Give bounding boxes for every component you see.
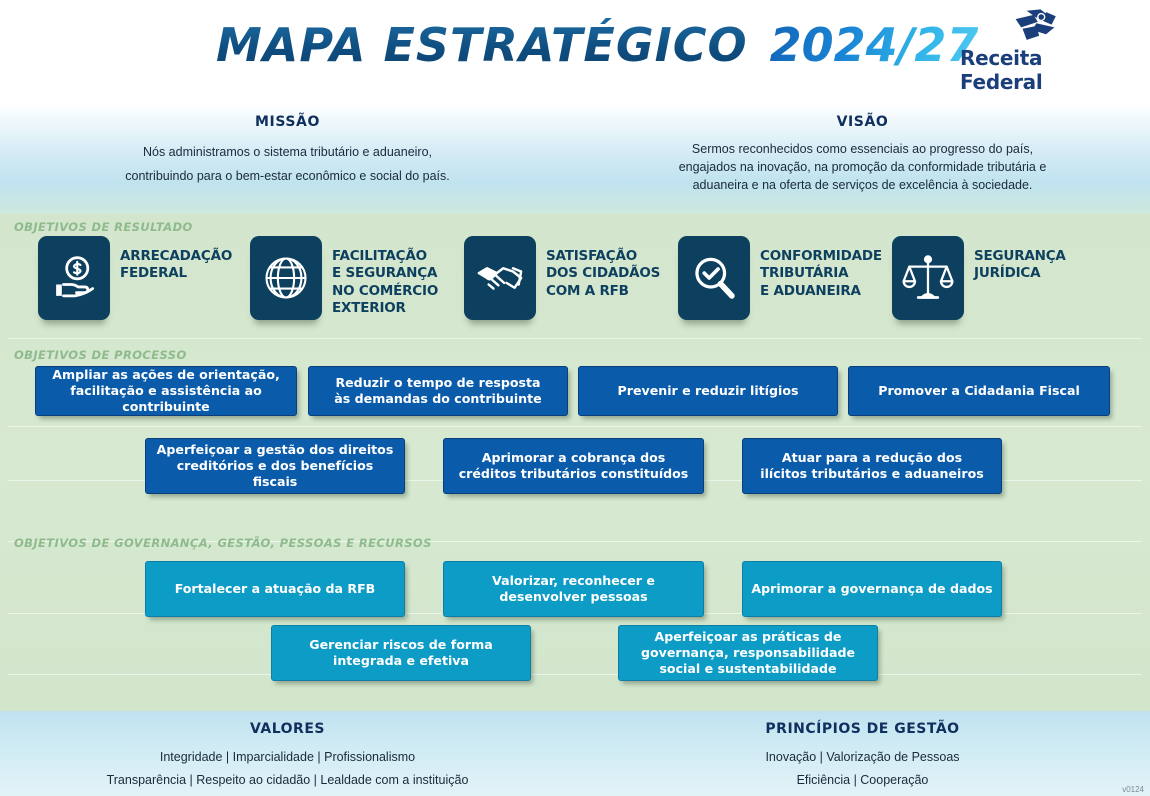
box-line-1: Aperfeiçoar a gestão dos direitos (154, 442, 396, 458)
result-objective-label: SEGURANÇA JURÍDICA (974, 248, 1066, 283)
vision-line-1: Sermos reconhecidos como essenciais ao p… (575, 140, 1150, 158)
mission-line-2: contribuindo para o bem-estar econômico … (0, 164, 575, 188)
label-line-1: CONFORMIDADE (760, 248, 882, 265)
label-line-2: TRIBUTÁRIA (760, 265, 882, 282)
principles-heading: PRINCÍPIOS DE GESTÃO (575, 721, 1150, 737)
version-label: v0124 (1122, 785, 1144, 794)
values-block: VALORES Integridade | Imparcialidade | P… (0, 711, 575, 796)
values-heading: VALORES (0, 721, 575, 737)
label-line-1: SEGURANÇA (974, 248, 1066, 265)
footer-band: VALORES Integridade | Imparcialidade | P… (0, 711, 1150, 796)
result-objective-satisfacao[interactable]: SATISFAÇÃO DOS CIDADÃOS COM A RFB (464, 236, 660, 320)
result-objective-label: FACILITAÇÃO E SEGURANÇA NO COMÉRCIO EXTE… (332, 248, 438, 317)
process-objective-direitos-creditorios[interactable]: Aperfeiçoar a gestão dos direitos credit… (145, 438, 405, 494)
result-objective-label: ARRECADAÇÃO FEDERAL (120, 248, 232, 283)
result-objective-comercio-exterior[interactable]: FACILITAÇÃO E SEGURANÇA NO COMÉRCIO EXTE… (250, 236, 438, 320)
mission-line-1: Nós administramos o sistema tributário e… (0, 140, 575, 164)
process-objective-prevenir-litigios[interactable]: Prevenir e reduzir litígios (578, 366, 838, 416)
mission-heading: MISSÃO (0, 114, 575, 130)
process-objective-ampliar-acoes[interactable]: Ampliar as ações de orientação, facilita… (35, 366, 297, 416)
section-label-process: OBJETIVOS DE PROCESSO (14, 348, 187, 362)
mission-vision-band: MISSÃO Nós administramos o sistema tribu… (0, 104, 1150, 214)
mission-block: MISSÃO Nós administramos o sistema tribu… (0, 104, 575, 214)
process-objective-reducao-ilicitos[interactable]: Atuar para a redução dos ilícitos tribut… (742, 438, 1002, 494)
governance-objective-gerenciar-riscos[interactable]: Gerenciar riscos de forma integrada e ef… (271, 625, 531, 681)
title-main-text: MAPA ESTRATÉGICO (216, 18, 748, 72)
result-objective-seguranca-juridica[interactable]: SEGURANÇA JURÍDICA (892, 236, 1066, 320)
box-line-1: Ampliar as ações de orientação, (44, 367, 288, 383)
result-objective-label: CONFORMIDADE TRIBUTÁRIA E ADUANEIRA (760, 248, 882, 300)
box-line-2: às demandas do contribuinte (334, 391, 541, 407)
process-objective-reduzir-tempo[interactable]: Reduzir o tempo de resposta às demandas … (308, 366, 568, 416)
label-line-4: EXTERIOR (332, 300, 438, 317)
receita-federal-brasao-icon (993, 8, 1077, 44)
box-line-1: Prevenir e reduzir litígios (618, 383, 799, 399)
label-line-3: NO COMÉRCIO (332, 283, 438, 300)
label-line-3: E ADUANEIRA (760, 283, 882, 300)
strategic-map-page: MAPA ESTRATÉGICO 2024/27 Receita Federal… (0, 0, 1150, 796)
label-line-2: DOS CIDADÃOS (546, 265, 660, 282)
management-principles-block: PRINCÍPIOS DE GESTÃO Inovação | Valoriza… (575, 711, 1150, 796)
governance-objective-fortalecer-rfb[interactable]: Fortalecer a atuação da RFB (145, 561, 405, 617)
box-line-2: ilícitos tributários e aduaneiros (760, 466, 983, 482)
box-line-2: créditos tributários constituídos (459, 466, 689, 482)
process-objective-cobranca-creditos[interactable]: Aprimorar a cobrança dos créditos tribut… (443, 438, 704, 494)
label-line-3: COM A RFB (546, 283, 660, 300)
label-line-2: E SEGURANÇA (332, 265, 438, 282)
box-line-2: creditórios e dos benefícios fiscais (154, 458, 396, 490)
box-line-2: governança, responsabilidade (641, 645, 855, 661)
label-line-1: FACILITAÇÃO (332, 248, 438, 265)
vision-heading: VISÃO (575, 114, 1150, 130)
hand-holding-dollar-coin-icon (38, 236, 110, 320)
values-line-1: Integridade | Imparcialidade | Profissio… (0, 746, 575, 769)
vision-line-3: aduaneira e na oferta de serviços de exc… (575, 176, 1150, 194)
result-objective-arrecadacao[interactable]: ARRECADAÇÃO FEDERAL (38, 236, 232, 320)
title-years-text: 2024/27 (770, 18, 979, 72)
governance-objective-valorizar-pessoas[interactable]: Valorizar, reconhecer e desenvolver pess… (443, 561, 704, 617)
box-line-1: Valorizar, reconhecer e (492, 573, 655, 589)
values-line-2: Transparência | Respeito ao cidadão | Le… (0, 769, 575, 792)
receita-federal-logo: Receita Federal (960, 8, 1110, 94)
band-divider (8, 426, 1142, 427)
box-line-1: Promover a Cidadania Fiscal (878, 383, 1080, 399)
label-line-2: FEDERAL (120, 265, 232, 282)
box-line-1: Aprimorar a cobrança dos (459, 450, 689, 466)
box-line-2: facilitação e assistência ao contribuint… (44, 383, 288, 415)
handshake-icon (464, 236, 536, 320)
logo-text: Receita Federal (960, 46, 1110, 94)
section-label-result: OBJETIVOS DE RESULTADO (14, 220, 193, 234)
box-line-1: Aperfeiçoar as práticas de (641, 629, 855, 645)
box-line-2: integrada e efetiva (309, 653, 492, 669)
principles-line-2: Eficiência | Cooperação (575, 769, 1150, 792)
box-line-1: Gerenciar riscos de forma (309, 637, 492, 653)
box-line-3: social e sustentabilidade (641, 661, 855, 677)
page-title: MAPA ESTRATÉGICO 2024/27 (216, 18, 978, 72)
principles-line-1: Inovação | Valorização de Pessoas (575, 746, 1150, 769)
process-objective-cidadania-fiscal[interactable]: Promover a Cidadania Fiscal (848, 366, 1110, 416)
box-line-2: desenvolver pessoas (492, 589, 655, 605)
section-label-governance: OBJETIVOS DE GOVERNANÇA, GESTÃO, PESSOAS… (14, 536, 432, 550)
box-line-1: Reduzir o tempo de resposta (334, 375, 541, 391)
label-line-1: ARRECADAÇÃO (120, 248, 232, 265)
box-line-1: Atuar para a redução dos (760, 450, 983, 466)
label-line-2: JURÍDICA (974, 265, 1066, 282)
magnifier-check-icon (678, 236, 750, 320)
label-line-1: SATISFAÇÃO (546, 248, 660, 265)
globe-grid-icon (250, 236, 322, 320)
box-line-1: Fortalecer a atuação da RFB (175, 581, 376, 597)
scales-of-justice-icon (892, 236, 964, 320)
result-objective-conformidade[interactable]: CONFORMIDADE TRIBUTÁRIA E ADUANEIRA (678, 236, 882, 320)
box-line-1: Aprimorar a governança de dados (751, 581, 992, 597)
result-objectives-row: ARRECADAÇÃO FEDERAL FACILITAÇÃO E SEGURA… (0, 236, 1150, 340)
band-divider (8, 674, 1142, 675)
result-objective-label: SATISFAÇÃO DOS CIDADÃOS COM A RFB (546, 248, 660, 300)
governance-objective-governanca-dados[interactable]: Aprimorar a governança de dados (742, 561, 1002, 617)
governance-objective-praticas-governanca[interactable]: Aperfeiçoar as práticas de governança, r… (618, 625, 878, 681)
vision-line-2: engajados na inovação, na promoção da co… (575, 158, 1150, 176)
vision-block: VISÃO Sermos reconhecidos como essenciai… (575, 104, 1150, 214)
header: MAPA ESTRATÉGICO 2024/27 Receita Federal (0, 0, 1150, 104)
